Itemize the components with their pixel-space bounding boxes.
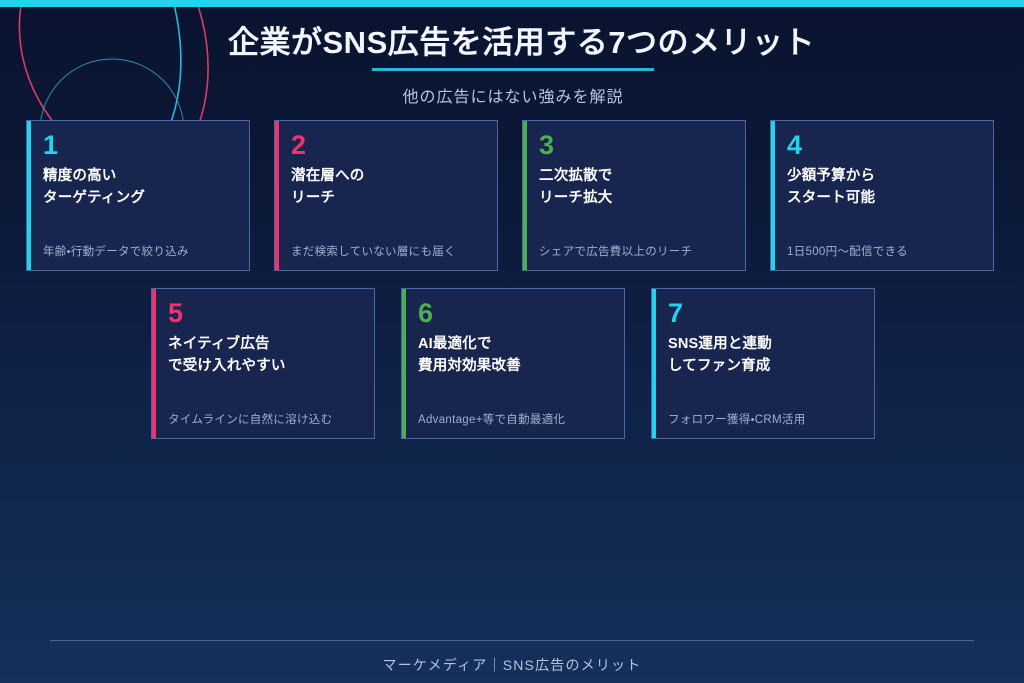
card-title-line-1: 二次拡散で <box>539 165 731 187</box>
card-accent-bar <box>652 289 656 438</box>
benefit-card-4[interactable]: 4 少額予算から スタート可能 1日500円〜配信できる <box>770 120 994 271</box>
card-note: シェアで広告費以上のリーチ <box>539 245 731 260</box>
card-number: 4 <box>787 129 979 163</box>
slide-canvas: 企業がSNS広告を活用する7つのメリット 他の広告にはない強みを解説 1 精度の… <box>0 0 1024 683</box>
card-number: 7 <box>668 297 860 331</box>
card-title-line-1: 潜在層への <box>291 165 483 187</box>
card-title-line-2: リーチ <box>291 187 483 209</box>
card-title-line-1: 精度の高い <box>43 165 235 187</box>
benefit-card-2[interactable]: 2 潜在層への リーチ まだ検索していない層にも届く <box>274 120 498 271</box>
page-title: 企業がSNS広告を活用する7つのメリット <box>228 25 798 61</box>
card-title-line-2: スタート可能 <box>787 187 979 209</box>
card-accent-bar <box>27 121 31 270</box>
benefit-card-1[interactable]: 1 精度の高い ターゲティング 年齢・行動データで絞り込み <box>26 120 250 271</box>
card-note: Advantage+等で自動最適化 <box>418 413 610 428</box>
card-title-line-1: SNS運用と連動 <box>668 333 860 355</box>
card-title: 少額予算から スタート可能 <box>787 165 979 210</box>
card-title: ネイティブ広告 で受け入れやすい <box>168 333 360 378</box>
card-title-line-2: で受け入れやすい <box>168 355 360 377</box>
card-note: 1日500円〜配信できる <box>787 245 979 260</box>
card-title: 精度の高い ターゲティング <box>43 165 235 210</box>
card-note: まだ検索していない層にも届く <box>291 245 483 260</box>
benefit-card-6[interactable]: 6 AI最適化で 費用対効果改善 Advantage+等で自動最適化 <box>401 288 625 439</box>
card-title-line-1: AI最適化で <box>418 333 610 355</box>
card-number: 6 <box>418 297 610 331</box>
card-note: 年齢・行動データで絞り込み <box>43 245 235 260</box>
benefit-card-7[interactable]: 7 SNS運用と連動 してファン育成 フォロワー獲得・CRM活用 <box>651 288 875 439</box>
card-title-line-2: リーチ拡大 <box>539 187 731 209</box>
cards-row-top: 1 精度の高い ターゲティング 年齢・行動データで絞り込み 2 潜在層への リー… <box>26 120 994 271</box>
card-title-line-2: 費用対効果改善 <box>418 355 610 377</box>
slide-footer: マーケメディア｜SNS広告のメリット <box>50 640 974 675</box>
page-subtitle: 他の広告にはない強みを解説 <box>228 83 798 107</box>
card-accent-bar <box>275 121 279 270</box>
card-accent-bar <box>402 289 406 438</box>
card-title-line-2: ターゲティング <box>43 187 235 209</box>
footer-divider <box>50 640 974 641</box>
card-number: 3 <box>539 129 731 163</box>
card-title: AI最適化で 費用対効果改善 <box>418 333 610 378</box>
title-block: 企業がSNS広告を活用する7つのメリット 他の広告にはない強みを解説 <box>228 25 798 107</box>
card-title-line-1: 少額予算から <box>787 165 979 187</box>
cards-row-bottom: 5 ネイティブ広告 で受け入れやすい タイムラインに自然に溶け込む 6 AI最適… <box>151 288 875 439</box>
card-title: 二次拡散で リーチ拡大 <box>539 165 731 210</box>
card-accent-bar <box>523 121 527 270</box>
card-title-line-1: ネイティブ広告 <box>168 333 360 355</box>
card-number: 1 <box>43 129 235 163</box>
benefit-card-5[interactable]: 5 ネイティブ広告 で受け入れやすい タイムラインに自然に溶け込む <box>151 288 375 439</box>
title-underline <box>372 68 654 71</box>
benefit-card-3[interactable]: 3 二次拡散で リーチ拡大 シェアで広告費以上のリーチ <box>522 120 746 271</box>
card-note: フォロワー獲得・CRM活用 <box>668 413 860 428</box>
card-number: 5 <box>168 297 360 331</box>
card-title: 潜在層への リーチ <box>291 165 483 210</box>
top-accent-bar <box>0 0 1024 7</box>
card-note: タイムラインに自然に溶け込む <box>168 413 360 428</box>
card-accent-bar <box>771 121 775 270</box>
card-accent-bar <box>152 289 156 438</box>
card-title-line-2: してファン育成 <box>668 355 860 377</box>
card-number: 2 <box>291 129 483 163</box>
footer-caption: マーケメディア｜SNS広告のメリット <box>50 655 974 675</box>
card-title: SNS運用と連動 してファン育成 <box>668 333 860 378</box>
